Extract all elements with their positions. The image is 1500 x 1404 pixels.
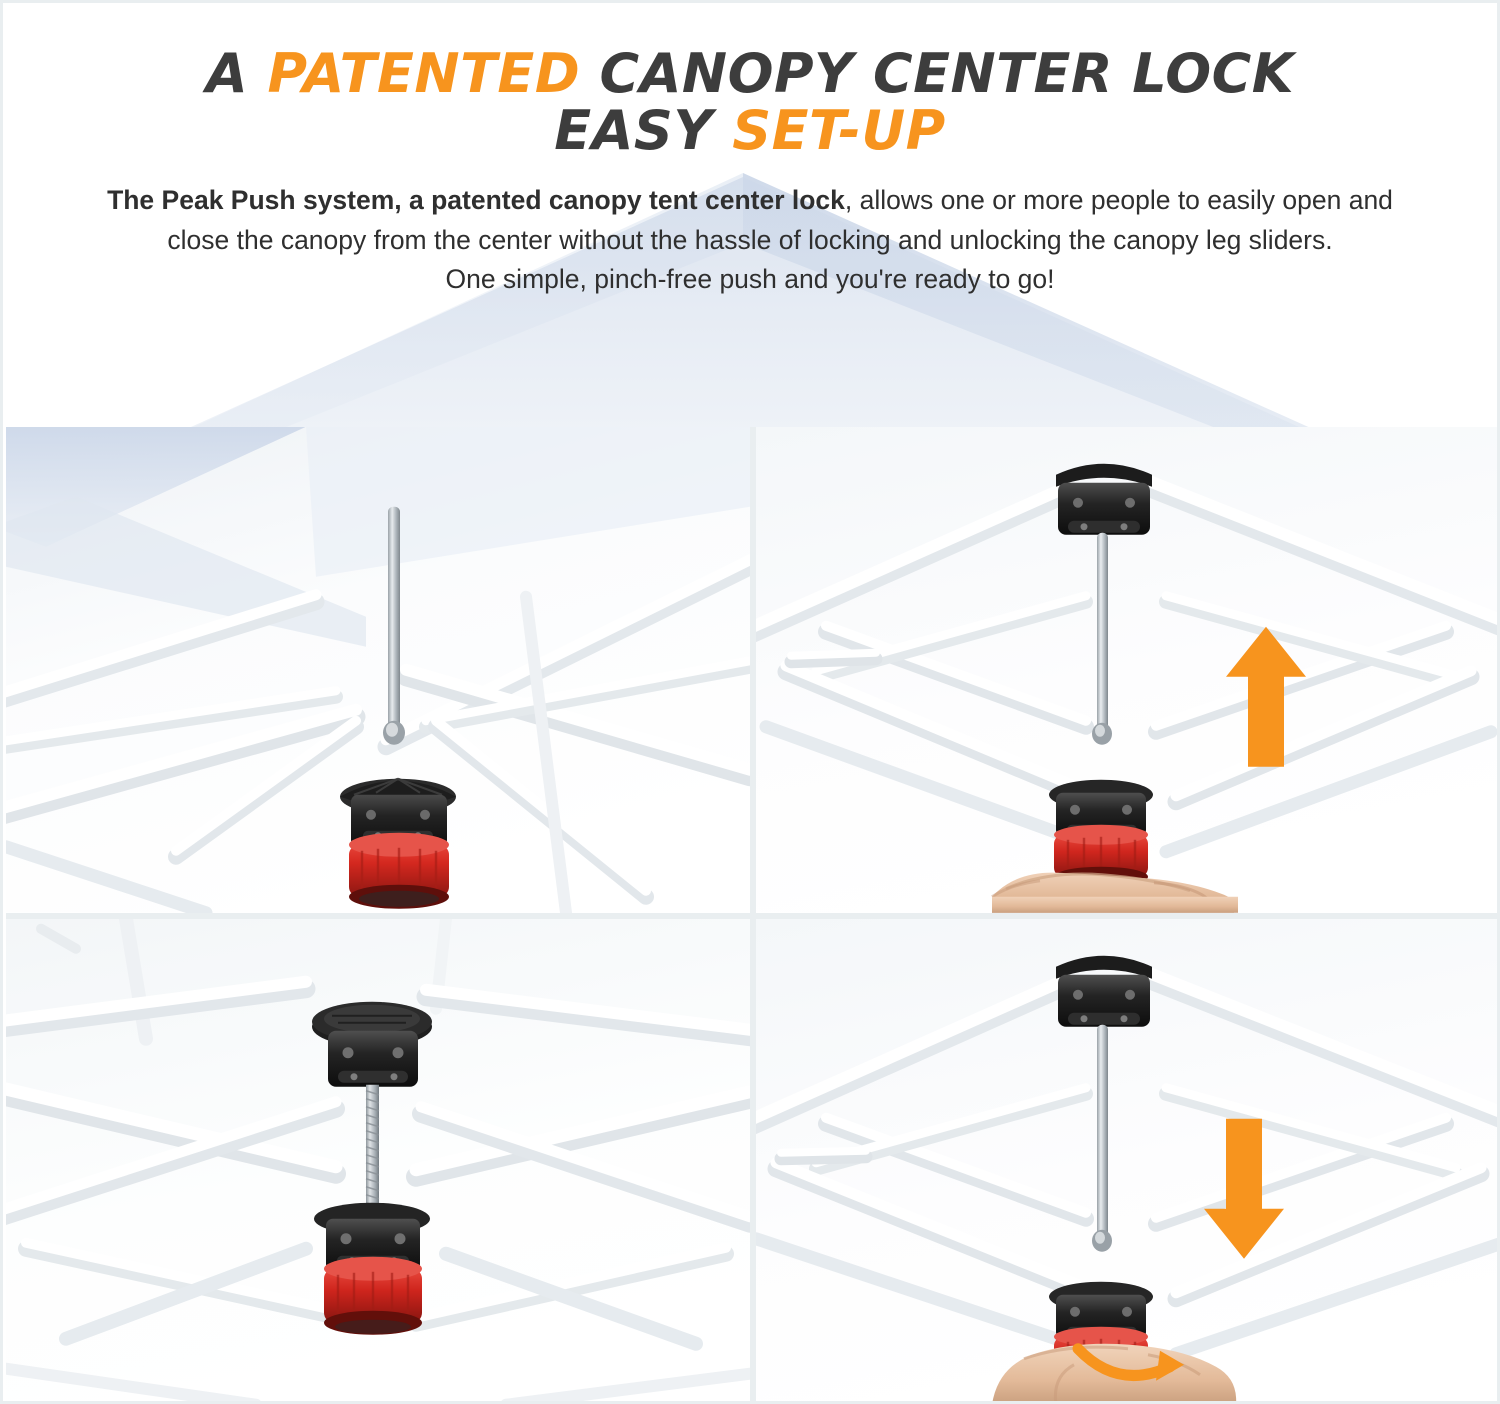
panel-top-left xyxy=(6,427,750,913)
product-infographic-page: A PATENTED CANOPY CENTER LOCK EASY SET-U… xyxy=(0,0,1500,1404)
description-paragraph: The Peak Push system, a patented canopy … xyxy=(100,181,1400,299)
upper-hub xyxy=(1056,955,1152,1026)
headline-line-2: EASY SET-UP xyxy=(3,102,1497,159)
page-title: A PATENTED CANOPY CENTER LOCK EASY SET-U… xyxy=(3,3,1497,159)
lower-hub-red xyxy=(314,1202,430,1334)
photo-grid xyxy=(6,427,1500,1404)
headline-text-a: A xyxy=(206,42,268,105)
headline-text-b: CANOPY CENTER LOCK xyxy=(580,42,1294,105)
headline-highlight-patented: PATENTED xyxy=(267,42,580,105)
headline-text-c: EASY xyxy=(554,99,732,162)
center-lock-hub xyxy=(1049,780,1153,887)
headline-line-1: A PATENTED CANOPY CENTER LOCK xyxy=(3,45,1497,102)
center-lock-hub xyxy=(340,779,456,909)
panel-bottom-left xyxy=(6,919,750,1404)
upper-hub xyxy=(1056,464,1152,535)
threaded-rod xyxy=(366,1084,379,1214)
panel-top-right xyxy=(756,427,1500,913)
headline-highlight-setup: SET-UP xyxy=(732,99,946,162)
description-bold-lead: The Peak Push system, a patented canopy … xyxy=(107,185,845,215)
panel-bottom-right xyxy=(756,919,1500,1404)
upper-hub xyxy=(312,1001,432,1086)
description-last-line: One simple, pinch-free push and you're r… xyxy=(445,264,1054,294)
